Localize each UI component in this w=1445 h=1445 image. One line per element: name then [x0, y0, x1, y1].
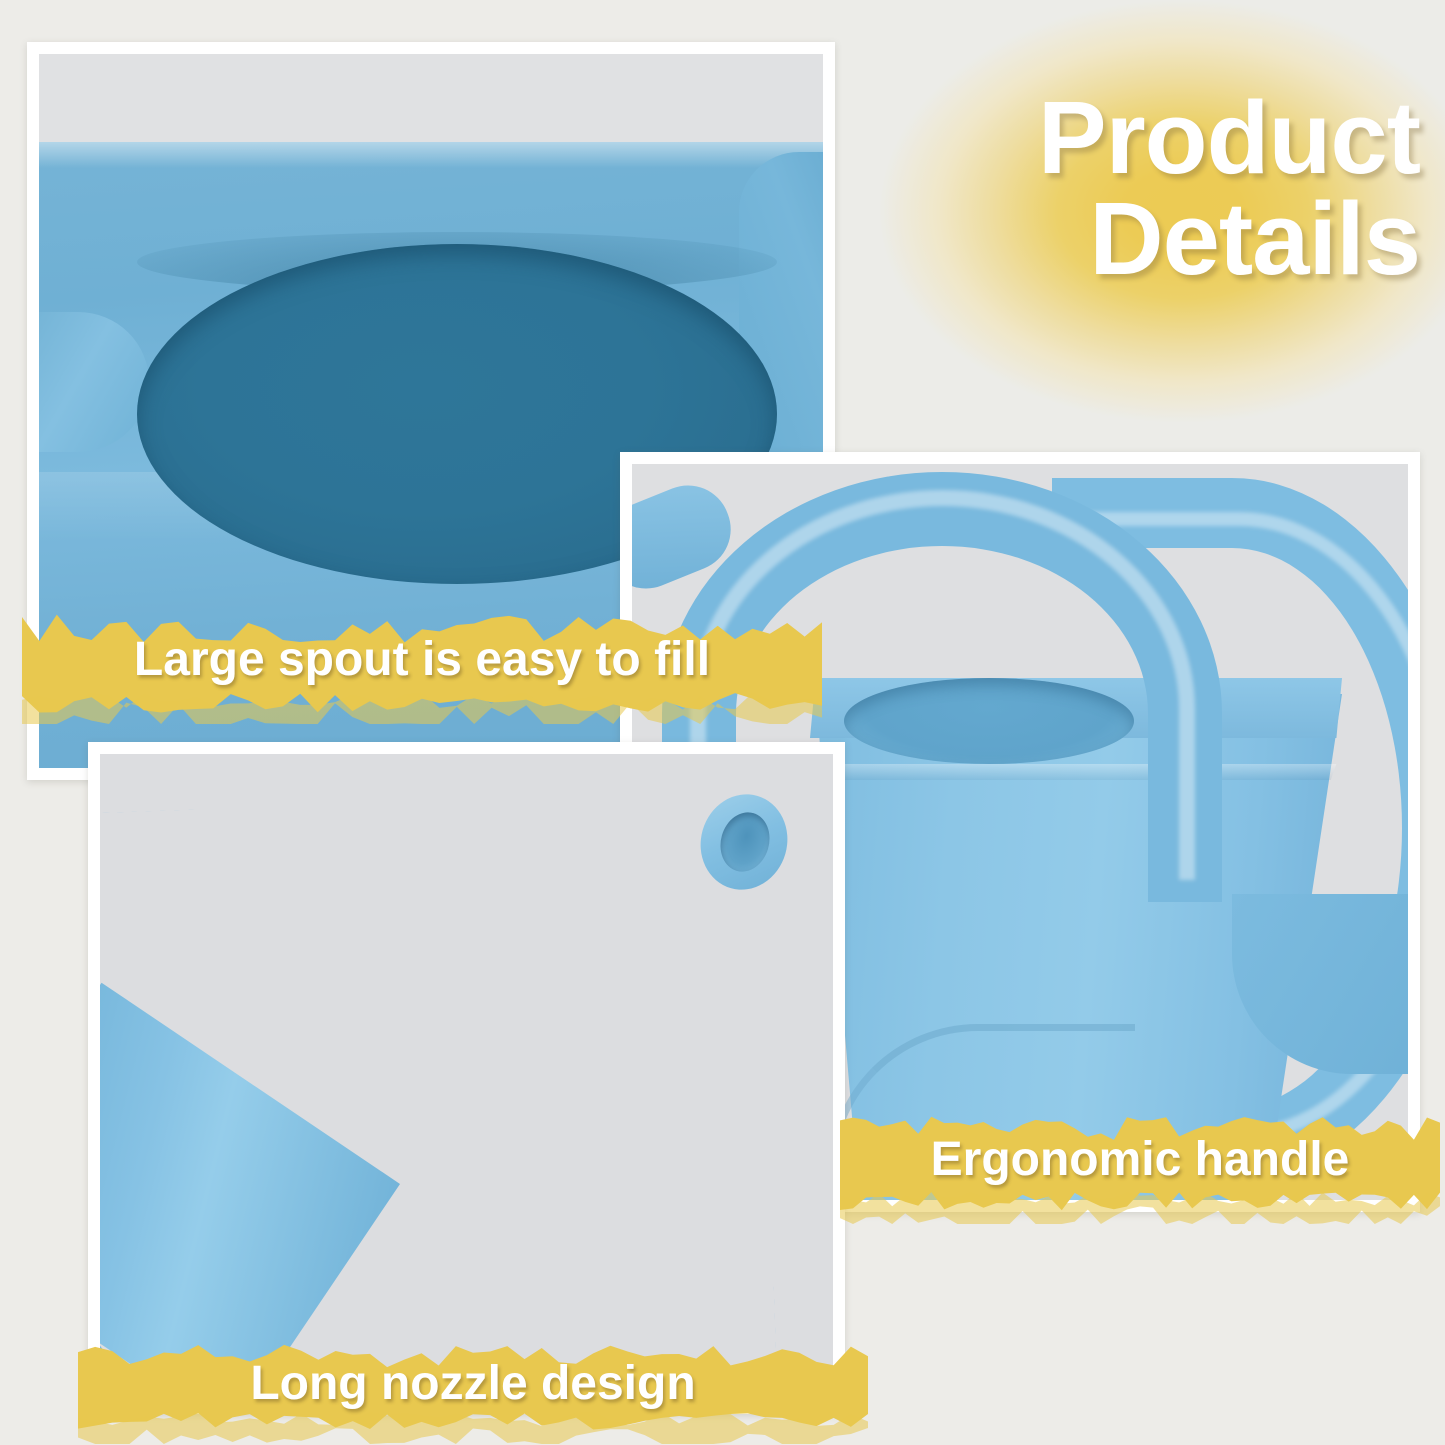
nozzle-highlight — [100, 806, 770, 1402]
spout-rim-highlight — [39, 142, 823, 168]
caption-banner-long-nozzle: Long nozzle design — [78, 1332, 868, 1444]
caption-long-nozzle: Long nozzle design — [78, 1356, 868, 1411]
caption-banner-large-spout: Large spout is easy to fill — [22, 596, 822, 724]
page-title: Product Details — [860, 88, 1420, 290]
product-details-infographic: Product Details — [0, 0, 1445, 1445]
caption-banner-ergonomic-handle: Ergonomic handle — [840, 1100, 1440, 1224]
caption-ergonomic-handle: Ergonomic handle — [840, 1132, 1440, 1187]
panel-long-nozzle — [88, 742, 845, 1414]
photo-long-nozzle — [100, 754, 833, 1402]
caption-large-spout: Large spout is easy to fill — [22, 632, 822, 687]
